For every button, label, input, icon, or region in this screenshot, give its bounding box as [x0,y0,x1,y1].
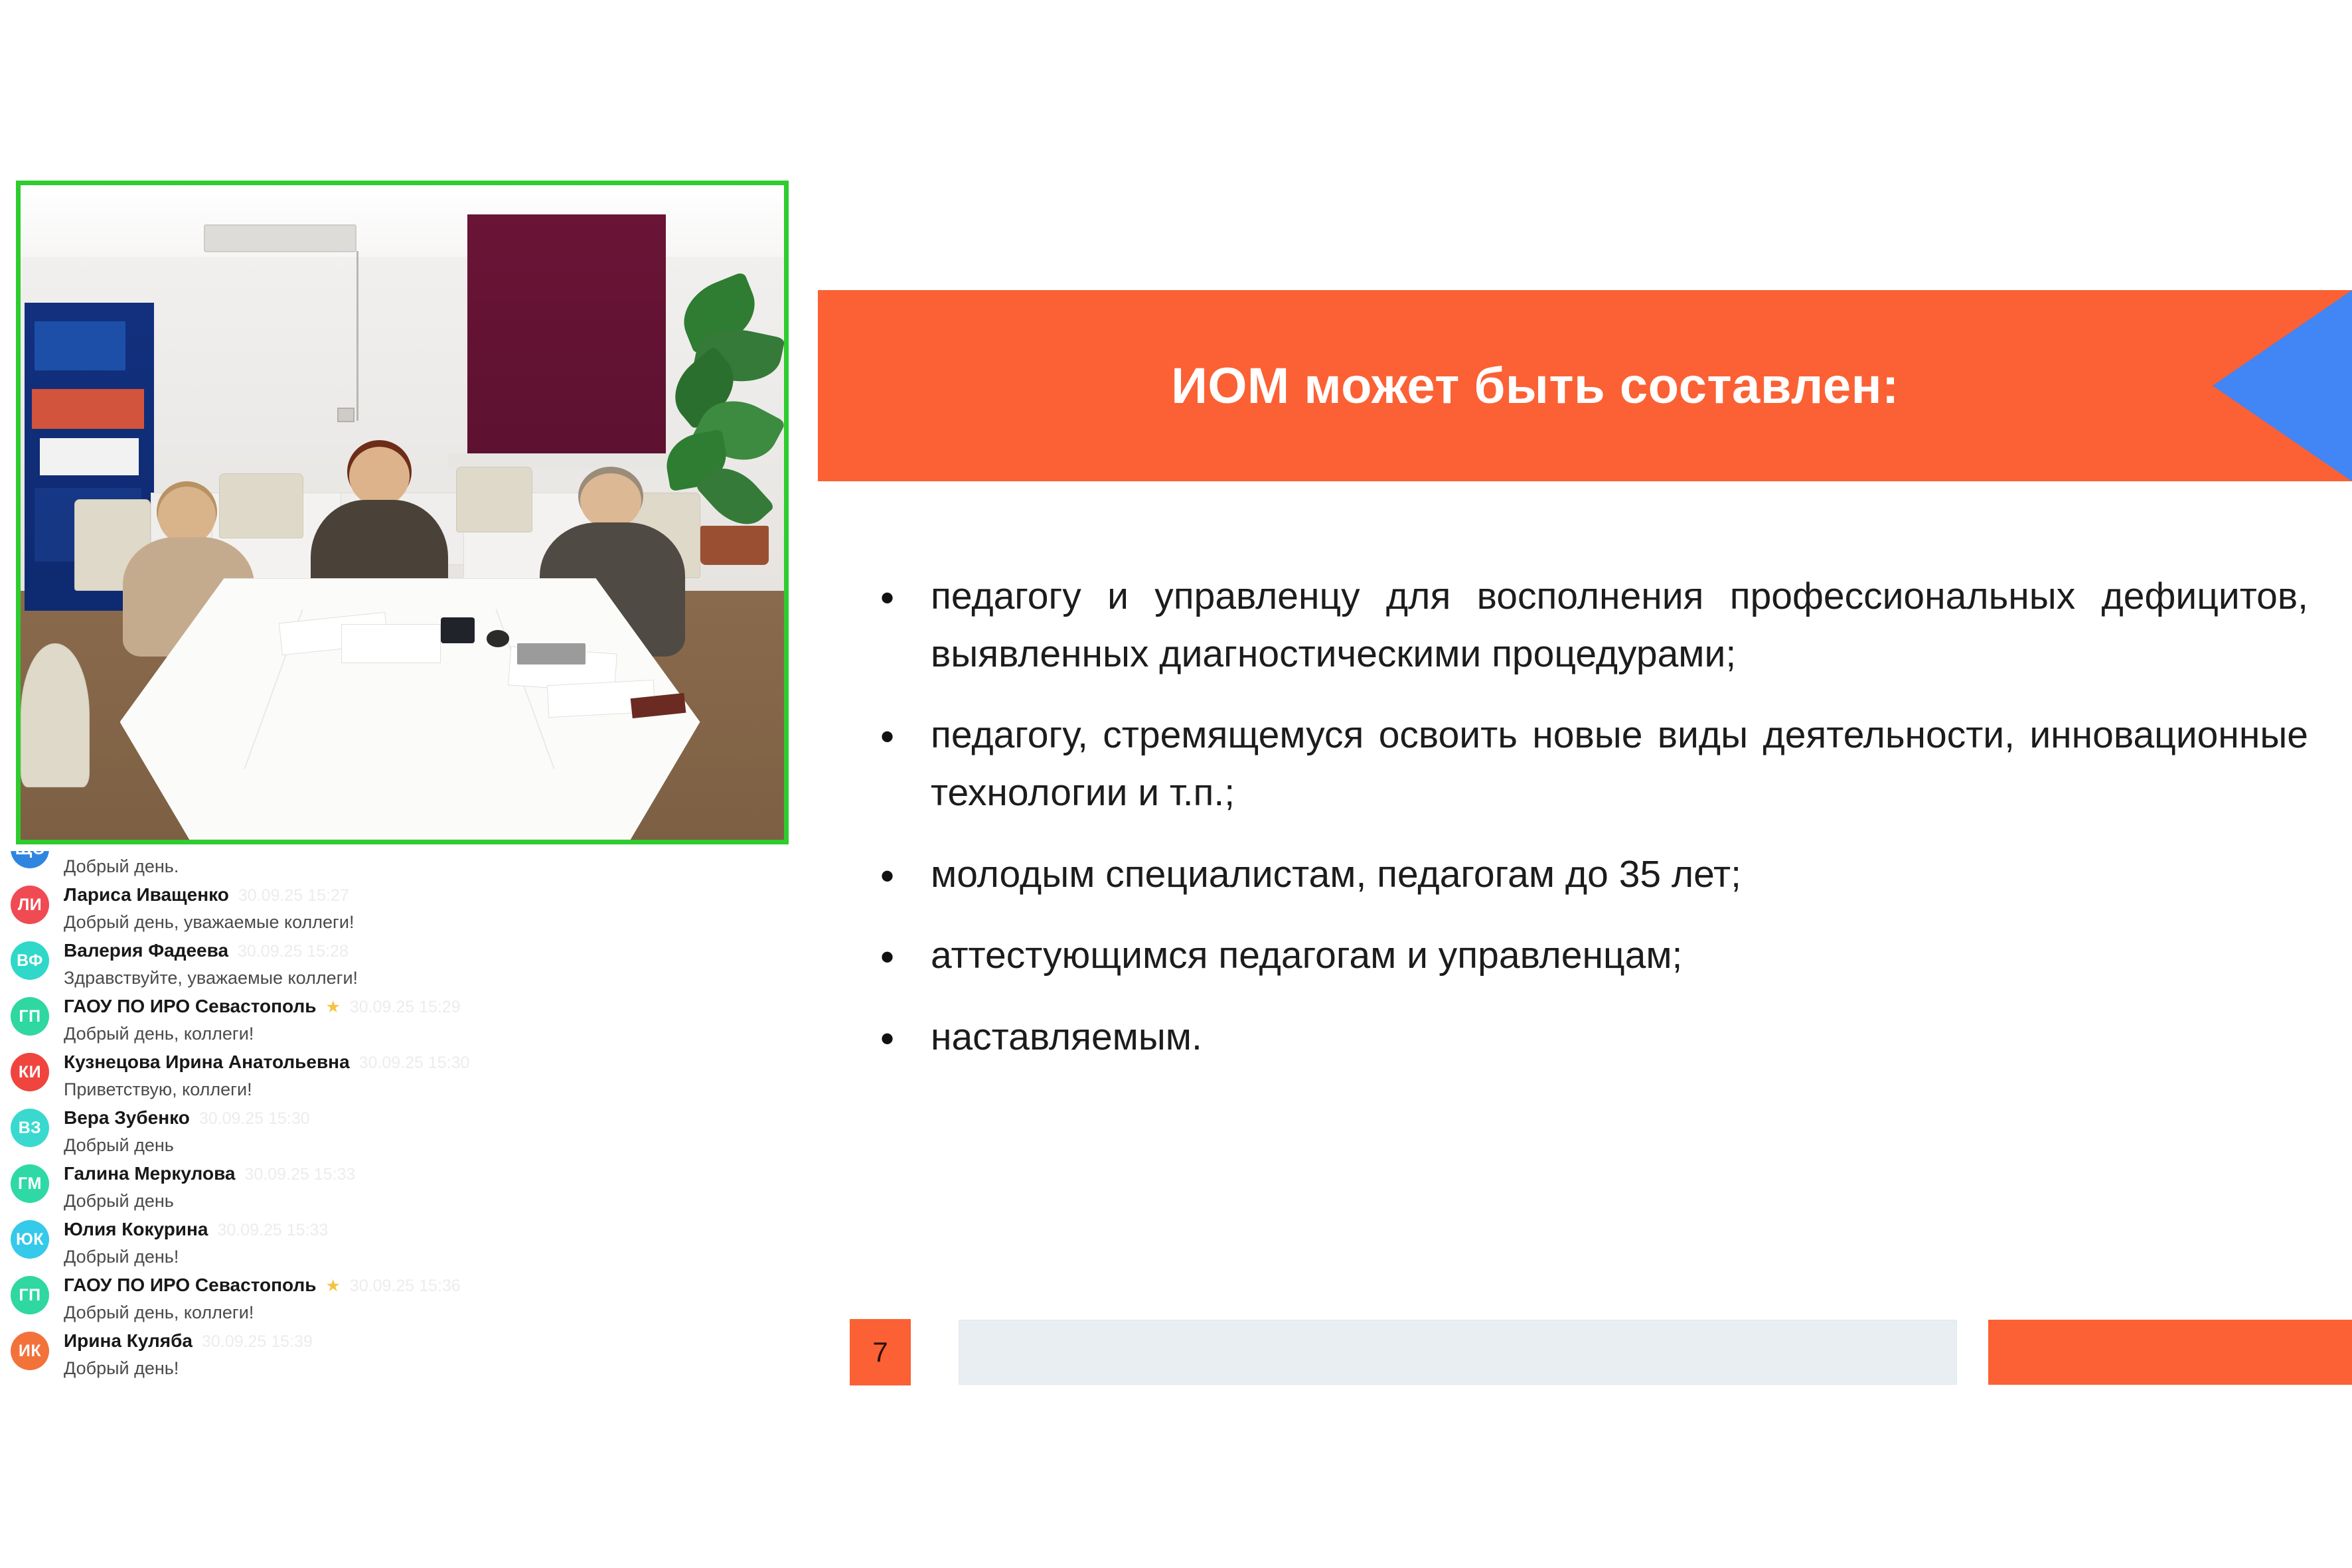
ceiling-band [21,185,784,257]
chat-sender-name: Валерия Фадеева [64,940,228,961]
chat-message-text: Добрый день! [64,1358,803,1379]
chat-timestamp: 30.09.25 15:33 [218,1221,329,1240]
chat-message-header: ГАОУ ПО ИРО Севастополь★30.09.25 15:36 [64,1275,803,1296]
chat-message-list[interactable]: ЩСЩербинина С.Н.30.09.25 15:26Добрый ден… [0,851,803,1568]
plant-pot [700,526,769,565]
computer-mouse [487,630,510,647]
chat-message-row[interactable]: ГПГАОУ ПО ИРО Севастополь★30.09.25 15:29… [0,996,803,1044]
avatar: КИ [11,1053,49,1091]
banner-logo [40,438,139,475]
chat-message-text: Добрый день, уважаемые коллеги! [64,912,803,933]
chat-message-row[interactable]: ЮКЮлия Кокурина30.09.25 15:33Добрый день… [0,1219,803,1267]
avatar: ЮК [11,1220,49,1259]
chat-message-text: Добрый день, коллеги! [64,1302,803,1323]
smartphone [441,617,475,643]
slide-title-banner: ИОМ может быть составлен: [818,290,2352,481]
bullet-item: молодым специалистам, педагогам до 35 ле… [858,846,2308,903]
chat-message-header: Галина Меркулова30.09.25 15:33 [64,1163,803,1184]
wall-socket [337,408,354,422]
banner-stripe [35,321,125,370]
chat-timestamp: 30.09.25 15:39 [202,1332,313,1352]
avatar: ГП [11,997,49,1036]
chat-message-text: Добрый день, коллеги! [64,1024,803,1044]
bullet-item: педагогу, стремящемуся освоить новые вид… [858,706,2308,821]
chat-message-header: Кузнецова Ирина Анатольевна30.09.25 15:3… [64,1052,803,1073]
chat-timestamp: 30.09.25 15:28 [238,942,349,961]
chat-timestamp: 30.09.25 15:36 [350,1277,461,1296]
chat-message-text: Добрый день [64,1135,803,1156]
chat-sender-name: ГАОУ ПО ИРО Севастополь [64,996,316,1017]
bullet-item: педагогу и управленцу для восполнения пр… [858,568,2308,682]
chat-sender-name: Кузнецова Ирина Анатольевна [64,1052,350,1073]
chat-message-header: Валерия Фадеева30.09.25 15:28 [64,940,803,961]
bullet-item: наставляемым. [858,1008,2308,1066]
chat-message-header: Юлия Кокурина30.09.25 15:33 [64,1219,803,1240]
avatar: ГМ [11,1164,49,1203]
chat-sender-name: Лариса Иващенко [64,884,229,905]
page-title: ИОМ может быть составлен: [1171,357,1999,415]
head [580,473,641,528]
chevron-left-icon [2213,290,2352,481]
bullet-item: аттестующимся педагогам и управленцам; [858,927,2308,984]
head [158,487,216,544]
chat-message-text: Приветствую, коллеги! [64,1079,803,1100]
paper-sheet [341,624,441,663]
chat-message-text: Добрый день. [64,856,803,877]
chat-message-row[interactable]: ЛИЛариса Иващенко30.09.25 15:27Добрый де… [0,884,803,933]
banner-stripe [32,389,143,429]
chat-sender-name: Юлия Кокурина [64,1219,208,1240]
chat-sender-name: ГАОУ ПО ИРО Севастополь [64,1275,316,1296]
chat-message-text: Добрый день! [64,1247,803,1267]
footer-accent-bar [1988,1320,2352,1385]
chat-message-text: Добрый день [64,1191,803,1212]
chat-message-row[interactable]: ИКИрина Куляба30.09.25 15:39Добрый день! [0,1330,803,1379]
chat-timestamp: 30.09.25 15:30 [359,1054,470,1073]
chat-sender-name: Галина Меркулова [64,1163,236,1184]
avatar: ВФ [11,941,49,980]
avatar: ИК [11,1332,49,1370]
avatar: ЛИ [11,886,49,924]
chat-message-row[interactable]: ВЗВера Зубенко30.09.25 15:30Добрый день [0,1107,803,1156]
chat-message-header: ГАОУ ПО ИРО Севастополь★30.09.25 15:29 [64,996,803,1017]
chat-message-row[interactable]: ВФВалерия Фадеева30.09.25 15:28Здравству… [0,940,803,988]
chat-timestamp: 30.09.25 15:33 [245,1165,356,1184]
chair [21,643,90,787]
window-curtain [467,214,666,457]
chat-message-header: Вера Зубенко30.09.25 15:30 [64,1107,803,1129]
chat-message-header: Лариса Иващенко30.09.25 15:27 [64,884,803,905]
chat-sender-name: Вера Зубенко [64,1107,190,1129]
chair [456,467,532,532]
avatar: ЩС [11,851,49,868]
avatar: ГП [11,1276,49,1314]
footer-bar [959,1320,1957,1385]
chat-message-header: Ирина Куляба30.09.25 15:39 [64,1330,803,1352]
cable [356,251,358,421]
star-icon: ★ [325,1276,340,1296]
chat-sender-name: Ирина Куляба [64,1330,193,1352]
slide-bullet-list: педагогу и управленцу для восполнения пр… [858,568,2308,1089]
chat-message-row[interactable]: КИКузнецова Ирина Анатольевна30.09.25 15… [0,1052,803,1100]
slide-page-number: 7 [850,1319,911,1385]
chat-message-row[interactable]: ГПГАОУ ПО ИРО Севастополь★30.09.25 15:36… [0,1275,803,1323]
avatar: ВЗ [11,1109,49,1147]
chat-message-text: Здравствуйте, уважаемые коллеги! [64,968,803,988]
star-icon: ★ [325,997,340,1017]
chat-message-row[interactable]: ЩСЩербинина С.Н.30.09.25 15:26Добрый ден… [0,851,803,877]
head [349,447,410,506]
video-feed-active-speaker[interactable] [16,181,789,844]
video-scene [21,185,784,840]
air-conditioner-icon [204,224,356,252]
chat-timestamp: 30.09.25 15:30 [199,1109,310,1129]
presentation-screen: ЩСЩербинина С.Н.30.09.25 15:26Добрый ден… [0,0,2352,1568]
chat-timestamp: 30.09.25 15:27 [238,886,349,905]
chat-message-row[interactable]: ГМГалина Меркулова30.09.25 15:33Добрый д… [0,1163,803,1212]
keyboard [517,643,586,665]
chat-timestamp: 30.09.25 15:29 [350,998,461,1017]
